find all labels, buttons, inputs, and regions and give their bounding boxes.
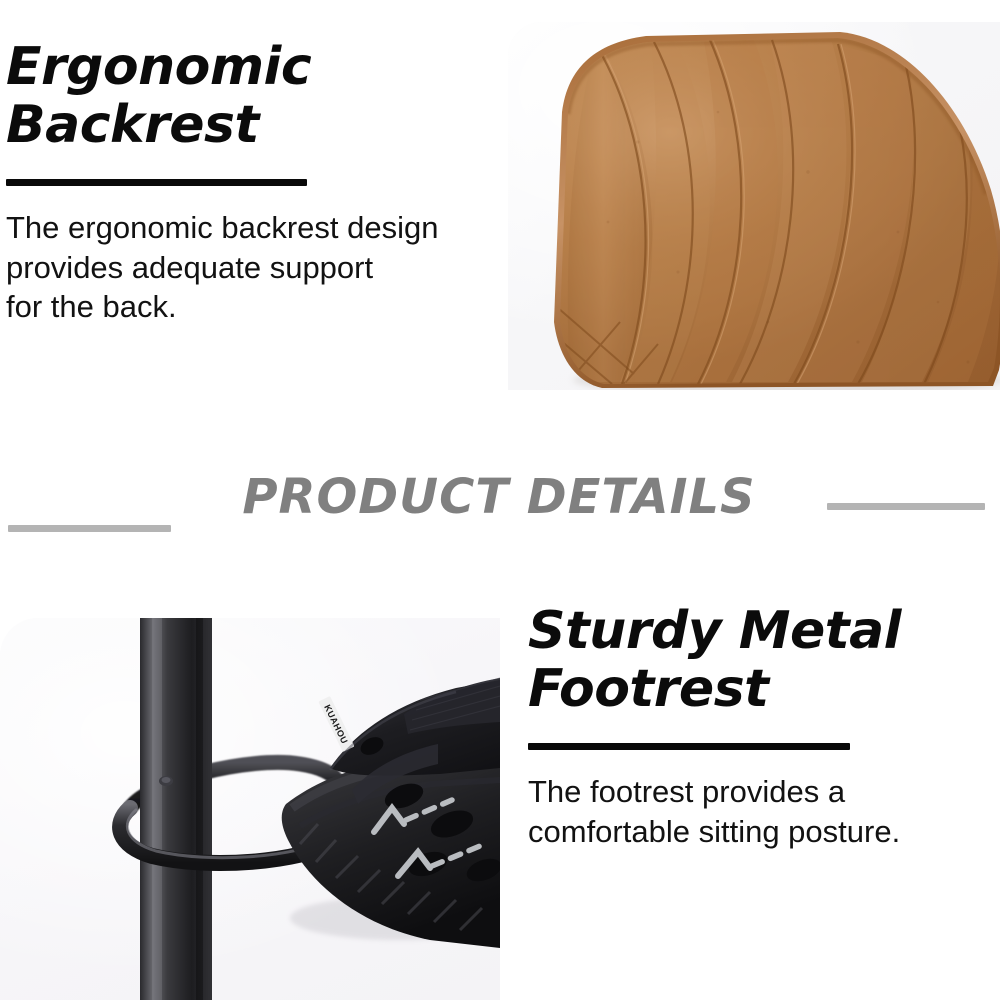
leather-backrest-photo [508,22,1000,390]
divider-rule-right [827,503,985,510]
feature-heading-underline [6,179,307,186]
sneaker: KUAHOU [282,678,500,948]
feature-heading-sturdy-metal-footrest: Sturdy Metal Footrest [528,602,998,718]
footrest-shoe-photo: KUAHOU [0,618,500,1000]
feature-text-ergonomic-backrest: Ergonomic Backrest The ergonomic backres… [6,38,516,326]
stool-column [140,618,212,1000]
leather-backrest-illustration [508,22,1000,390]
footrest-shoe-illustration: KUAHOU [0,618,500,1000]
section-divider-title: PRODUCT DETAILS [171,469,827,531]
divider-rule-left [8,525,171,532]
product-details-infographic: Ergonomic Backrest The ergonomic backres… [0,0,1000,1000]
feature-body-sturdy-metal-footrest: The footrest provides a comfortable sitt… [528,772,998,850]
section-divider: PRODUCT DETAILS [0,462,1000,538]
feature-body-ergonomic-backrest: The ergonomic backrest design provides a… [6,208,516,325]
feature-text-sturdy-metal-footrest: Sturdy Metal Footrest The footrest provi… [528,602,998,851]
shoe-brand-tag: KUAHOU [318,696,354,752]
feature-heading-ergonomic-backrest: Ergonomic Backrest [6,38,516,154]
feature-heading-underline [528,743,850,750]
backrest-body [508,22,1000,390]
